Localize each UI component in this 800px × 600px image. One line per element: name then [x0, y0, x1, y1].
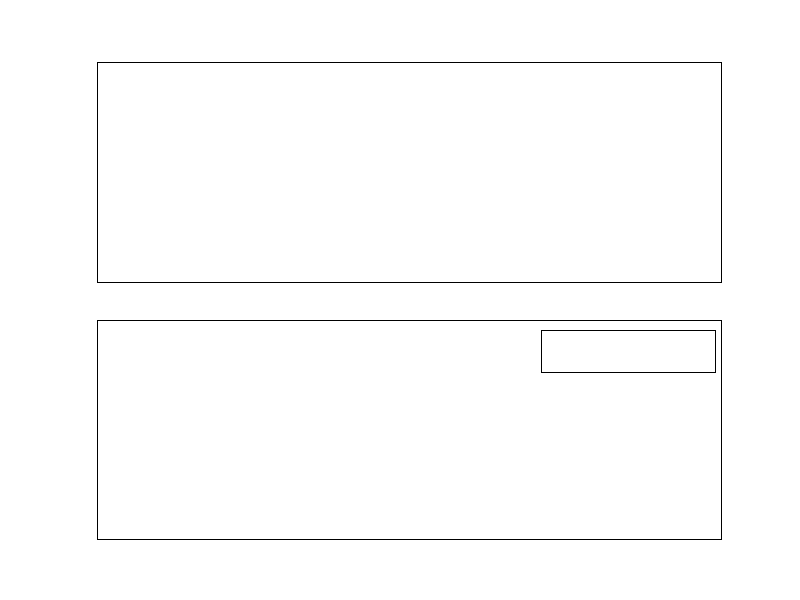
legend	[541, 330, 716, 373]
top-panel-axes	[97, 62, 722, 283]
figure-canvas	[0, 0, 800, 600]
mag-limit-line-icon	[552, 345, 592, 359]
histogram-plot	[98, 63, 721, 282]
